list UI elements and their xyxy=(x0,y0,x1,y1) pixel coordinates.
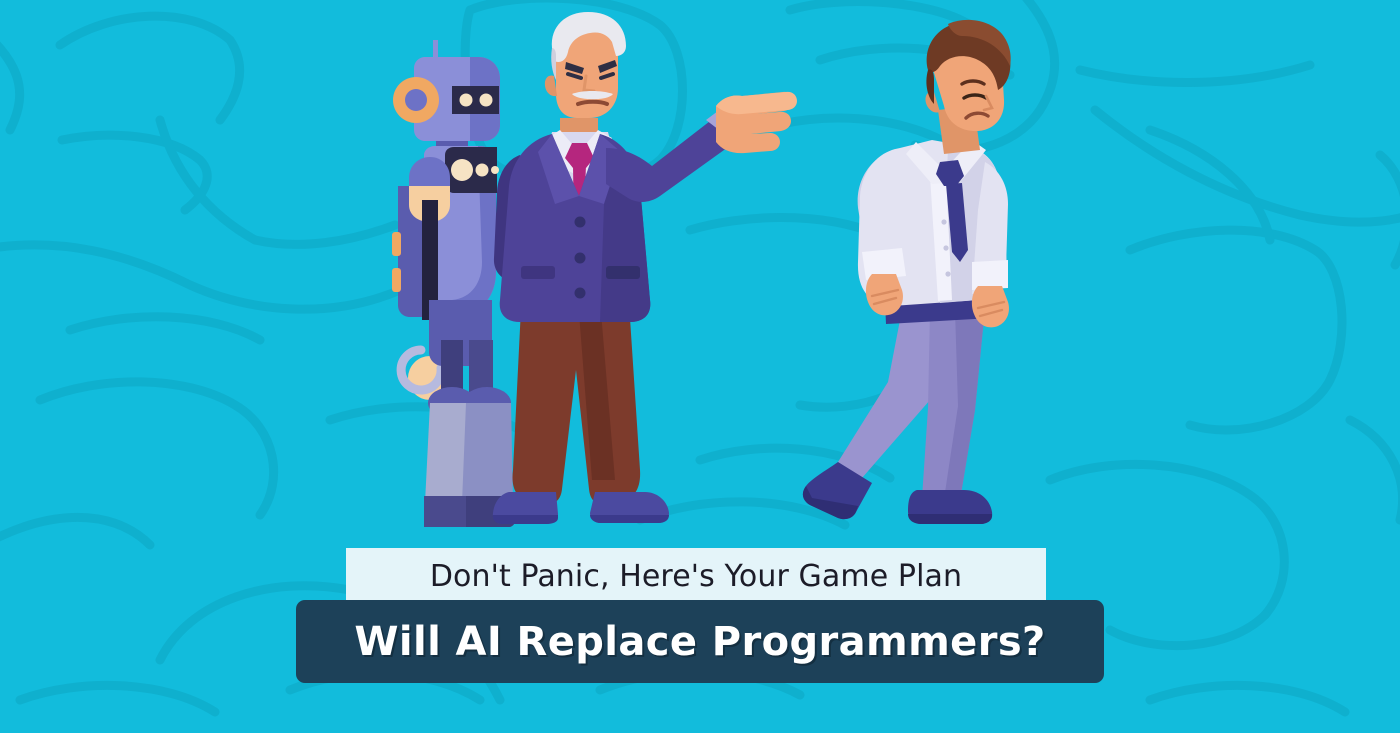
poster-canvas: Don't Panic, Here's Your Game Plan Will … xyxy=(0,0,1400,733)
subtitle-banner: Don't Panic, Here's Your Game Plan xyxy=(346,548,1046,605)
title-banner-group: Don't Panic, Here's Your Game Plan Will … xyxy=(0,548,1400,688)
title-text: Will AI Replace Programmers? xyxy=(354,619,1045,665)
boss-figure xyxy=(493,12,797,524)
subtitle-text: Don't Panic, Here's Your Game Plan xyxy=(430,559,962,594)
title-banner: Will AI Replace Programmers? xyxy=(296,600,1104,683)
robot-figure xyxy=(392,40,515,527)
programmer-figure xyxy=(803,20,1011,524)
